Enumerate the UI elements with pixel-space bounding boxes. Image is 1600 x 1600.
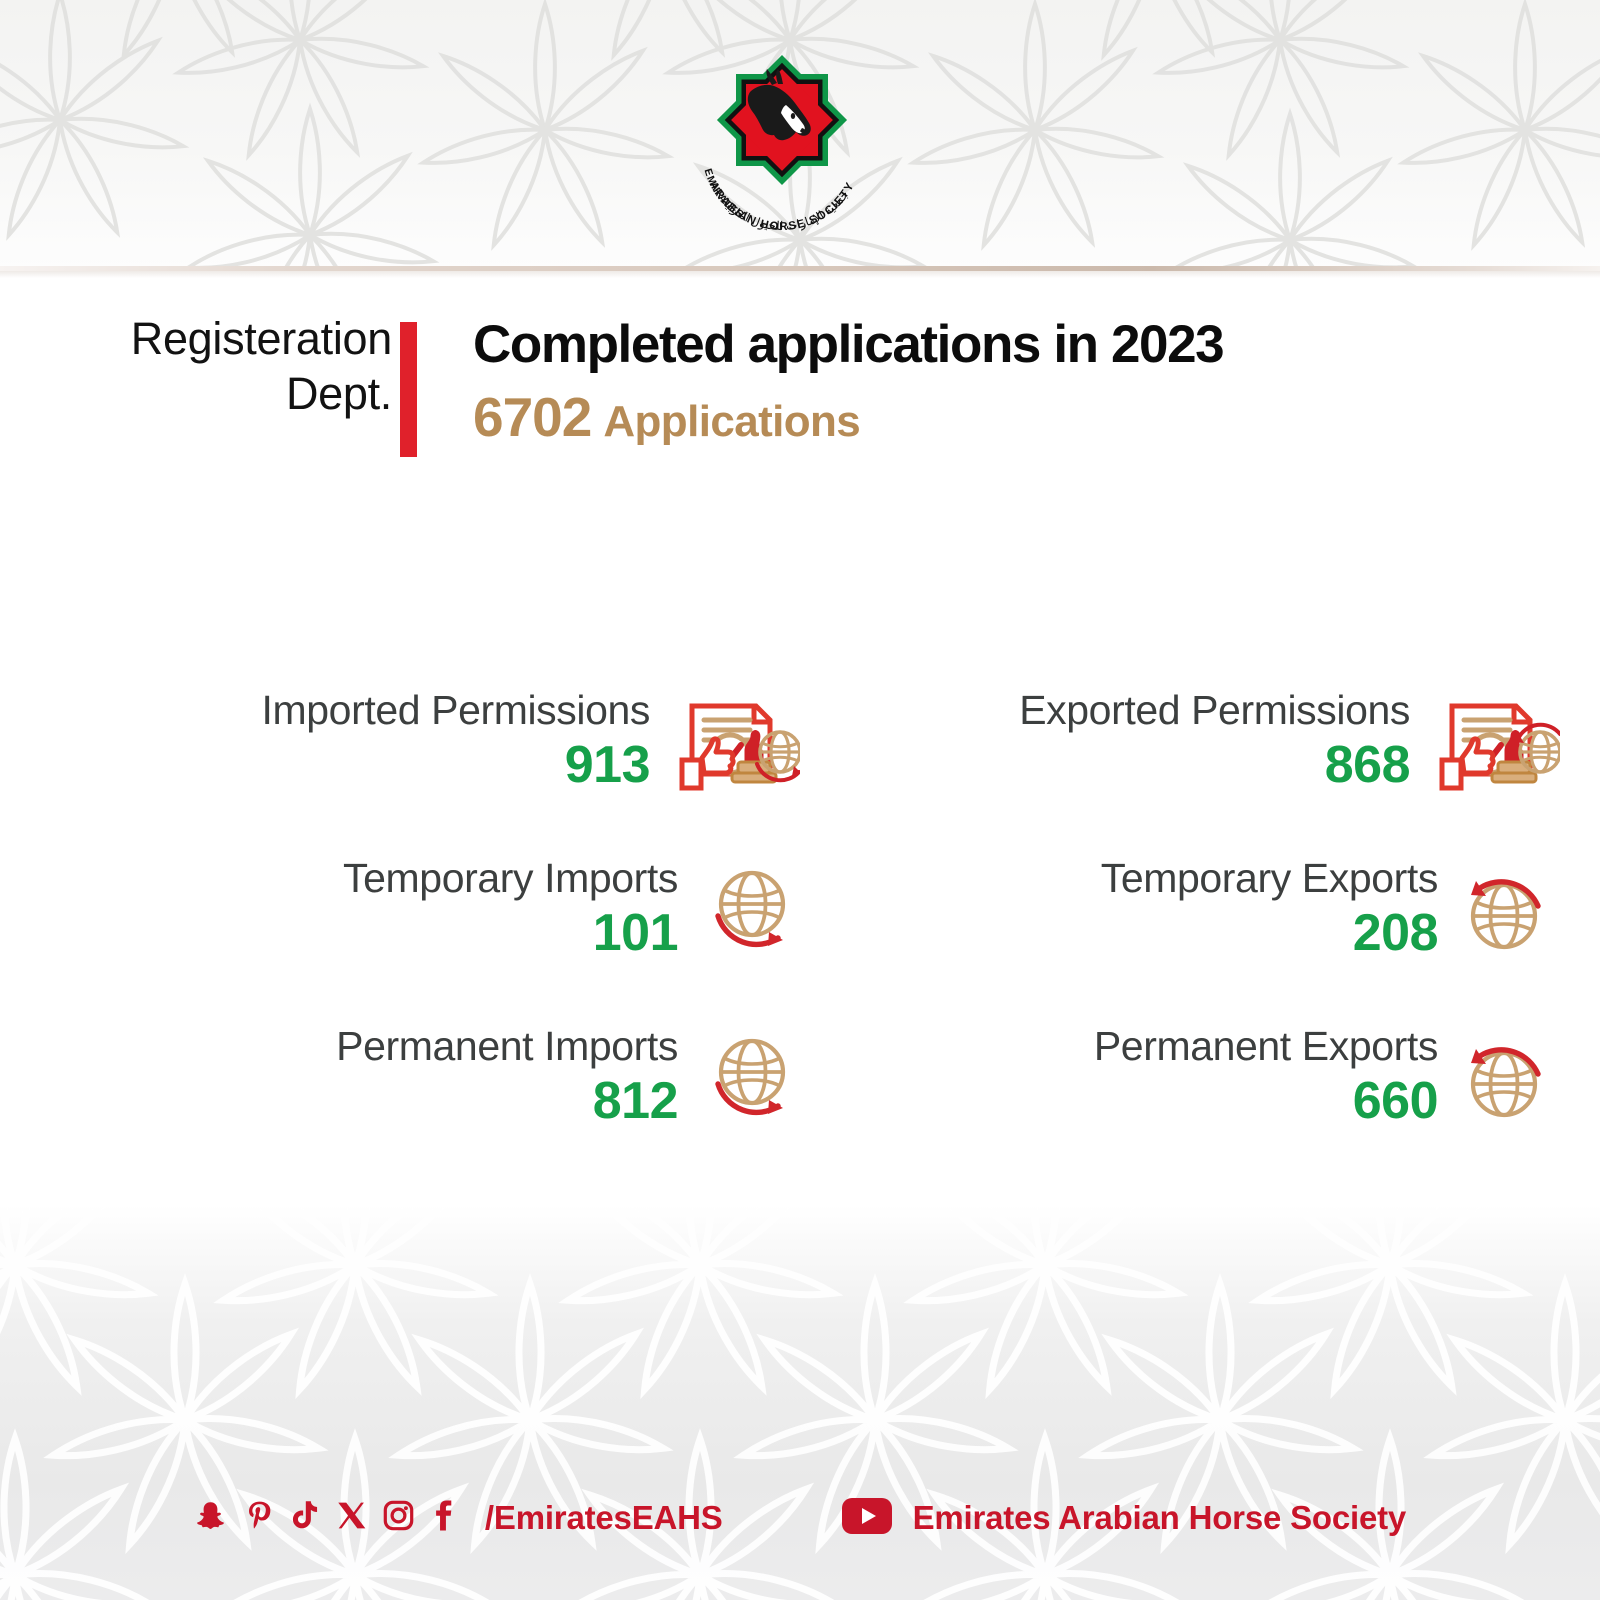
footer: /EmiratesEAHS Emirates Arabian Horse Soc… [0,1478,1600,1558]
application-total: 6702Applications [473,385,1223,449]
header: Registeration Dept. Completed applicatio… [0,312,1600,472]
youtube-channel-link[interactable]: Emirates Arabian Horse Society [841,1497,1406,1540]
globe-import-arrow-icon [696,836,800,969]
statistics-grid: Imported Permissions 913 [0,668,1600,1172]
department-label: Registeration Dept. [112,312,392,422]
x-twitter-icon[interactable] [336,1500,367,1536]
stat-value: 868 [856,737,1410,793]
stat-label: Exported Permissions [856,690,1410,731]
stat-text: Permanent Imports 812 [98,1004,678,1129]
globe-import-arrow-icon [696,1004,800,1137]
stat-card-exported-permissions: Exported Permissions 868 [800,668,1560,836]
youtube-channel-name: Emirates Arabian Horse Society [913,1499,1406,1537]
stat-label: Imported Permissions [92,690,650,731]
stat-label: Temporary Imports [112,858,678,899]
stat-text: Exported Permissions 868 [856,668,1410,793]
facebook-icon[interactable] [430,1499,454,1537]
eahs-logo: ARABIAN HORSE SOCIETY EMIRATES جمعية الإ… [676,38,888,238]
department-label-line2: Dept. [112,367,392,422]
social-handle: /EmiratesEAHS [485,1499,723,1537]
logo-ring-text-ar: جمعية الإمارات للخيول العربية [719,188,851,233]
stat-card-temporary-imports: Temporary Imports 101 [40,836,800,1004]
pinterest-icon[interactable] [242,1499,275,1537]
page-title: Completed applications in 2023 [473,314,1223,375]
red-divider-bar [400,322,417,457]
instagram-icon[interactable] [382,1499,415,1537]
globe-export-arrow-icon [1456,1004,1560,1137]
stat-value: 913 [92,737,650,793]
stat-label: Permanent Imports [98,1026,678,1067]
eahs-horse-star-logo-icon: ARABIAN HORSE SOCIETY EMIRATES جمعية الإ… [676,38,888,238]
tiktok-icon[interactable] [290,1499,321,1537]
stat-text: Imported Permissions 913 [92,668,650,793]
stat-value: 812 [98,1073,678,1129]
stat-text: Temporary Exports 208 [890,836,1438,961]
header-text-column: Completed applications in 2023 6702Appli… [473,312,1223,449]
stat-label: Permanent Exports [876,1026,1438,1067]
stat-card-imported-permissions: Imported Permissions 913 [40,668,800,836]
stat-card-temporary-exports: Temporary Exports 208 [800,836,1560,1004]
permission-document-stamp-globe-icon [668,668,800,807]
stat-text: Temporary Imports 101 [112,836,678,961]
stat-label: Temporary Exports [890,858,1438,899]
application-total-count: 6702 [473,386,591,448]
department-label-line1: Registeration [112,312,392,367]
stat-card-permanent-imports: Permanent Imports 812 [40,1004,800,1172]
stat-value: 208 [890,905,1438,961]
youtube-icon[interactable] [841,1497,893,1540]
header-divider-shadow [0,271,1600,278]
application-total-word: Applications [603,397,860,446]
stat-text: Permanent Exports 660 [876,1004,1438,1129]
stat-value: 101 [112,905,678,961]
stat-card-permanent-exports: Permanent Exports 660 [800,1004,1560,1172]
snapchat-icon[interactable] [194,1499,227,1537]
globe-export-arrow-icon [1456,836,1560,969]
stat-value: 660 [876,1073,1438,1129]
permission-document-stamp-globe-icon [1428,668,1560,807]
social-links-group: /EmiratesEAHS [194,1499,723,1537]
